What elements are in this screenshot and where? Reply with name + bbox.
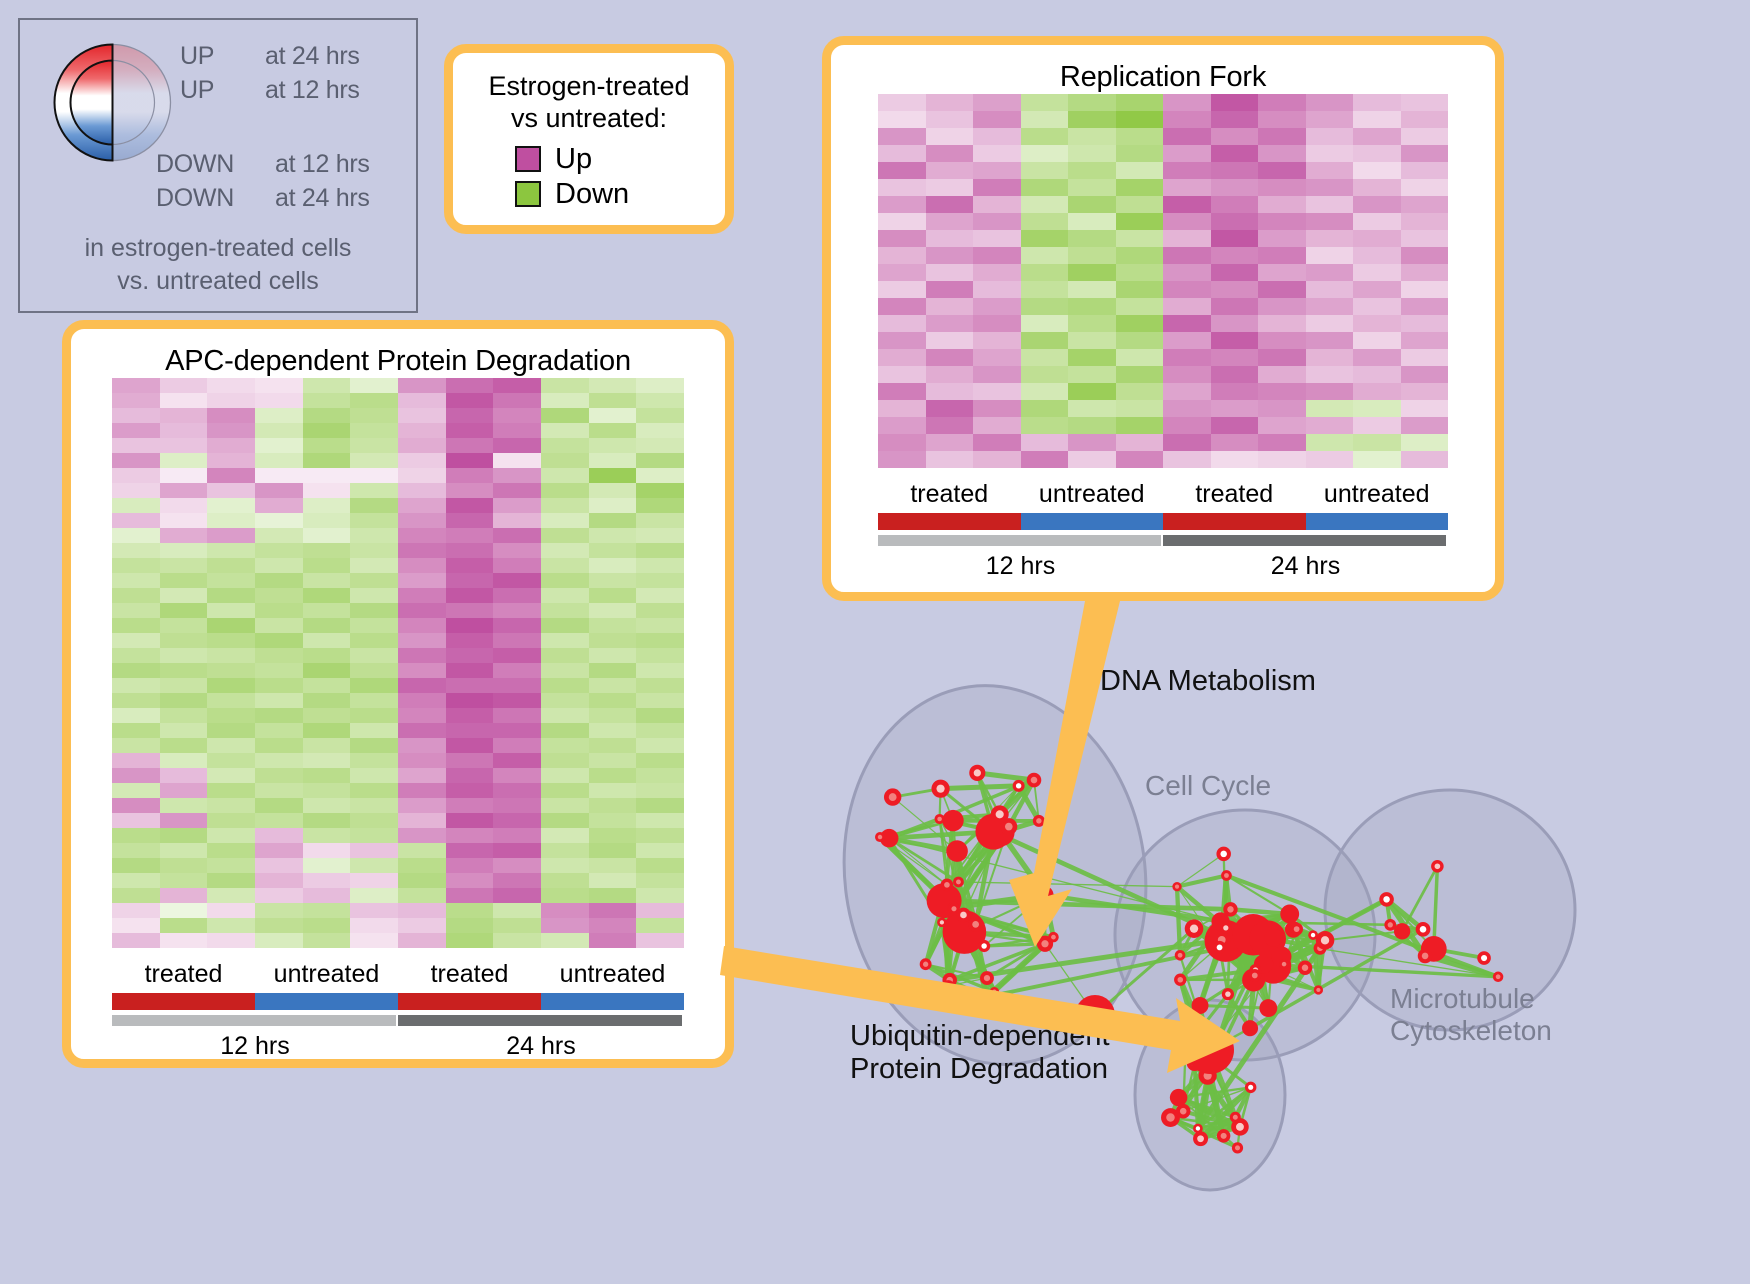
heatmap-cell [493, 858, 541, 873]
group-color-bar [112, 993, 255, 1010]
heatmap-cell [350, 588, 398, 603]
heatmap-cell [303, 663, 351, 678]
heatmap-cell [1258, 196, 1306, 213]
heatmap-cell [493, 903, 541, 918]
heatmap-cell [398, 468, 446, 483]
heatmap-cell [636, 708, 684, 723]
heatmap-cell [398, 723, 446, 738]
heatmap-cell [1353, 417, 1401, 434]
heatmap-cell [636, 798, 684, 813]
heatmap-cell [541, 588, 589, 603]
heatmap-cell [1306, 417, 1354, 434]
heatmap-cell [926, 94, 974, 111]
heatmap-cell [878, 400, 926, 417]
network-node[interactable] [1174, 974, 1186, 986]
heatmap-cell [398, 498, 446, 513]
network-node[interactable] [1192, 997, 1209, 1014]
heatmap-cell [446, 603, 494, 618]
heatmap-cell [207, 783, 255, 798]
heatmap-cell [1306, 264, 1354, 281]
heatmap-cell [255, 663, 303, 678]
heatmap-cell [160, 468, 208, 483]
group-label: treated [1163, 480, 1306, 509]
network-node[interactable] [1223, 902, 1237, 916]
heatmap-cell [493, 603, 541, 618]
network-node[interactable] [1245, 1082, 1256, 1093]
pathway-network: DNA Metabolism Cell Cycle Microtubule Cy… [790, 620, 1750, 1279]
network-node[interactable] [1222, 988, 1234, 1000]
heatmap-cell [398, 663, 446, 678]
heatmap-cell [973, 298, 1021, 315]
heatmap-cell [589, 873, 637, 888]
heatmap-cell [1211, 349, 1259, 366]
heatmap-cell [1163, 162, 1211, 179]
heatmap-cell [160, 828, 208, 843]
network-node[interactable] [1033, 815, 1045, 827]
heatmap-cell [207, 813, 255, 828]
heatmap-cell [1163, 179, 1211, 196]
heatmap-cell [350, 708, 398, 723]
heatmap-cell [493, 633, 541, 648]
heatmap-cell [493, 543, 541, 558]
network-edge [941, 786, 1019, 789]
up-down-legend-items: Up Down [453, 143, 725, 211]
heatmap-cell [1116, 400, 1164, 417]
heatmap-cell [973, 145, 1021, 162]
heatmap-cell [207, 933, 255, 948]
heatmap-cell [1163, 247, 1211, 264]
heatmap-cell [589, 438, 637, 453]
network-node[interactable] [1221, 870, 1232, 881]
heatmap-cell [255, 423, 303, 438]
heatmap-cell [350, 903, 398, 918]
heatmap-cell [255, 708, 303, 723]
network-node[interactable] [1379, 892, 1394, 907]
heatmap-cell [973, 94, 1021, 111]
heatmap-cell [1211, 264, 1259, 281]
heatmap-cell [398, 813, 446, 828]
network-node[interactable] [1394, 923, 1410, 939]
heatmap-cell [589, 693, 637, 708]
heatmap-cell [926, 230, 974, 247]
heatmap-cell [493, 558, 541, 573]
heatmap-cell [589, 588, 637, 603]
heatmap-cell [207, 393, 255, 408]
heatmap-cell [303, 423, 351, 438]
heatmap-cell [112, 813, 160, 828]
panel-title-replication-fork: Replication Fork [831, 45, 1495, 94]
group-label: untreated [255, 960, 398, 989]
network-node[interactable] [935, 814, 945, 824]
heatmap-cell [541, 798, 589, 813]
network-node[interactable] [1280, 905, 1299, 924]
heatmap-cell [493, 828, 541, 843]
legend-label-up: Up [555, 143, 592, 176]
heatmap-cell [303, 483, 351, 498]
heatmap-cell [112, 828, 160, 843]
network-node[interactable] [1259, 999, 1277, 1017]
heatmap-cell [1258, 434, 1306, 451]
panel-apc-degradation: APC-dependent Protein Degradation treate… [62, 320, 734, 1068]
heatmap-cell [493, 453, 541, 468]
heatmap-cell [1116, 230, 1164, 247]
heatmap-cell [1068, 332, 1116, 349]
heatmap-cell [1211, 213, 1259, 230]
heatmap-cell [303, 393, 351, 408]
wheel-label-down-12: DOWN [156, 150, 234, 179]
heatmap-cell [446, 813, 494, 828]
heatmap-cell [1258, 417, 1306, 434]
heatmap-cell [541, 378, 589, 393]
network-node[interactable] [1384, 919, 1396, 931]
network-node[interactable] [968, 917, 983, 932]
heatmap-cell [398, 588, 446, 603]
heatmap-cell [303, 828, 351, 843]
up-down-legend-title: Estrogen-treated vs untreated: [453, 67, 725, 135]
network-node[interactable] [1290, 923, 1303, 936]
heatmap-cell [541, 888, 589, 903]
heatmap-cell [636, 453, 684, 468]
heatmap-cell [1258, 213, 1306, 230]
heatmap-cell [112, 798, 160, 813]
heatmap-cell [1353, 145, 1401, 162]
network-node[interactable] [1493, 972, 1503, 982]
heatmap-cell [1021, 332, 1069, 349]
heatmap-cell [1211, 332, 1259, 349]
heatmap-cell [1401, 383, 1449, 400]
heatmap-cell [1116, 315, 1164, 332]
network-node[interactable] [1027, 773, 1042, 788]
heatmap-cell [1211, 434, 1259, 451]
heatmap-cell [207, 723, 255, 738]
network-node[interactable] [1230, 1112, 1241, 1123]
heatmap-cell [589, 903, 637, 918]
heatmap-cell [350, 753, 398, 768]
cluster-label-cell-cycle: Cell Cycle [1145, 770, 1271, 802]
heatmap-cell [303, 468, 351, 483]
heatmap-cell [589, 378, 637, 393]
heatmap-cell [1068, 298, 1116, 315]
heatmap-cell [1068, 383, 1116, 400]
heatmap-cell [541, 603, 589, 618]
heatmap-cell [926, 179, 974, 196]
heatmap-cell [255, 483, 303, 498]
heatmap-cell [1401, 196, 1449, 213]
heatmap-cell [446, 408, 494, 423]
heatmap-cell [446, 918, 494, 933]
heatmap-cell [446, 753, 494, 768]
heatmap-cell [926, 247, 974, 264]
network-node[interactable] [1298, 961, 1312, 975]
heatmap-cell [112, 408, 160, 423]
heatmap-cell [398, 753, 446, 768]
heatmap-cell [1306, 383, 1354, 400]
heatmap-cell [303, 933, 351, 948]
heatmap-cell [255, 393, 303, 408]
network-node[interactable] [1213, 941, 1226, 954]
cluster-label-ubiquitin: Ubiquitin-dependent Protein Degradation [850, 1020, 1110, 1087]
heatmap-cell [589, 753, 637, 768]
heatmap-cell [1401, 128, 1449, 145]
heatmap-cell [589, 708, 637, 723]
network-node[interactable] [982, 992, 992, 1002]
heatmap-cell [207, 573, 255, 588]
heatmap-cell [303, 558, 351, 573]
heatmap-cell [1163, 264, 1211, 281]
network-node[interactable] [953, 877, 964, 888]
heatmap-cell [1211, 451, 1259, 468]
heatmap-cell [207, 648, 255, 663]
network-node[interactable] [991, 805, 1009, 823]
heatmap-cell [589, 933, 637, 948]
heatmap-cell [1021, 451, 1069, 468]
heatmap-cell [255, 933, 303, 948]
network-node[interactable] [1170, 1089, 1187, 1106]
heatmap-cell [446, 663, 494, 678]
heatmap-cell [1401, 264, 1449, 281]
heatmap-cell [493, 438, 541, 453]
network-node[interactable] [1314, 985, 1323, 994]
network-node[interactable] [875, 832, 885, 842]
heatmap-cell [1258, 162, 1306, 179]
heatmap-cell [926, 196, 974, 213]
network-node[interactable] [1185, 919, 1204, 938]
heatmap-cell [1258, 315, 1306, 332]
group-label: treated [398, 960, 541, 989]
heatmap-cell [160, 498, 208, 513]
heatmap-cell [398, 408, 446, 423]
heatmap-cell [973, 196, 1021, 213]
network-node[interactable] [920, 958, 932, 970]
heatmap-cell [1163, 196, 1211, 213]
heatmap-cell [160, 543, 208, 558]
heatmap-cell [878, 213, 926, 230]
wheel-time-up-12: at 12 hrs [265, 76, 360, 105]
heatmap-cell [636, 813, 684, 828]
network-node[interactable] [943, 980, 954, 991]
heatmap-cell [446, 588, 494, 603]
heatmap-cell [1163, 451, 1211, 468]
heatmap-cell [926, 213, 974, 230]
heatmap-cell [493, 468, 541, 483]
network-node[interactable] [1232, 1142, 1243, 1153]
wheel-time-up-24: at 24 hrs [265, 42, 360, 71]
network-node[interactable] [980, 971, 994, 985]
network-node[interactable] [1242, 1020, 1258, 1036]
down-color-swatch [515, 181, 541, 207]
heatmap-replication-fork [878, 94, 1448, 468]
heatmap-cell [1116, 349, 1164, 366]
heatmap-cell [1116, 145, 1164, 162]
network-node[interactable] [1193, 1131, 1208, 1146]
network-node[interactable] [1172, 882, 1181, 891]
heatmap-cell [255, 603, 303, 618]
heatmap-cell [926, 400, 974, 417]
network-node[interactable] [956, 908, 971, 923]
wheel-label-up-12: UP [180, 76, 214, 105]
network-node[interactable] [1013, 780, 1025, 792]
wheel-time-down-24: at 24 hrs [275, 184, 370, 213]
heatmap-cell [493, 708, 541, 723]
heatmap-cell [350, 723, 398, 738]
time-label: 12 hrs [112, 1032, 398, 1061]
network-graph [790, 620, 1750, 1279]
heatmap-cell [589, 528, 637, 543]
heatmap-cell [541, 783, 589, 798]
heatmap-cell [1163, 315, 1211, 332]
network-node[interactable] [937, 918, 947, 928]
heatmap-cell [398, 528, 446, 543]
network-node[interactable] [978, 940, 990, 952]
heatmap-cell [1306, 94, 1354, 111]
heatmap-cell [207, 558, 255, 573]
heatmap-cell [541, 903, 589, 918]
heatmap-cell [1211, 111, 1259, 128]
heatmap-cell [1258, 94, 1306, 111]
heatmap-cell [255, 573, 303, 588]
heatmap-cell [398, 768, 446, 783]
heatmap-cell [636, 483, 684, 498]
heatmap-cell [255, 528, 303, 543]
heatmap-cell [1068, 128, 1116, 145]
network-node[interactable] [1477, 951, 1491, 965]
time-label: 24 hrs [1163, 552, 1448, 581]
heatmap-cell [1211, 281, 1259, 298]
heatmap-cell [541, 663, 589, 678]
expression-direction-legend: UP at 24 hrs UP at 12 hrs DOWN at 12 hrs… [18, 18, 418, 313]
heatmap-cell [303, 843, 351, 858]
heatmap-cell [207, 903, 255, 918]
heatmap-cell [350, 483, 398, 498]
heatmap-cell [636, 393, 684, 408]
network-node[interactable] [1418, 949, 1433, 964]
heatmap-cell [1116, 179, 1164, 196]
network-node[interactable] [1161, 1108, 1180, 1127]
heatmap-cell [636, 513, 684, 528]
heatmap-cell [446, 453, 494, 468]
heatmap-cell [398, 573, 446, 588]
group-color-bar [541, 993, 684, 1010]
heatmap-cell [493, 918, 541, 933]
network-node[interactable] [1265, 928, 1283, 946]
heatmap-cell [446, 693, 494, 708]
heatmap-cell [1211, 162, 1259, 179]
heatmap-cell [398, 783, 446, 798]
network-node[interactable] [1048, 932, 1059, 943]
heatmap-cell [493, 813, 541, 828]
group-label: treated [112, 960, 255, 989]
network-node[interactable] [884, 788, 901, 805]
heatmap-cell [1306, 162, 1354, 179]
heatmap-cell [255, 858, 303, 873]
heatmap-cell [541, 708, 589, 723]
heatmap-cell [1306, 332, 1354, 349]
heatmap-cell [1211, 179, 1259, 196]
heatmap-cell [926, 332, 974, 349]
heatmap-cell [1306, 213, 1354, 230]
network-node[interactable] [1316, 931, 1335, 950]
heatmap-cell [493, 873, 541, 888]
heatmap-cell [350, 828, 398, 843]
heatmap-cell [303, 528, 351, 543]
heatmap-cell [303, 633, 351, 648]
network-node[interactable] [1416, 922, 1431, 937]
heatmap-cell [1353, 332, 1401, 349]
heatmap-cell [207, 693, 255, 708]
heatmap-cell [112, 603, 160, 618]
network-node[interactable] [1036, 886, 1053, 903]
heatmap-cell [160, 693, 208, 708]
network-node[interactable] [1220, 922, 1232, 934]
network-node[interactable] [941, 879, 954, 892]
heatmap-cell [1163, 434, 1211, 451]
network-node[interactable] [1431, 860, 1444, 873]
heatmap-cell [1306, 111, 1354, 128]
heatmap-cell [589, 393, 637, 408]
heatmap-cell [255, 588, 303, 603]
heatmap-cell [493, 783, 541, 798]
heatmap-cell [1401, 247, 1449, 264]
heatmap-cell [1163, 230, 1211, 247]
network-node[interactable] [942, 810, 963, 831]
heatmap-cell [878, 451, 926, 468]
network-node[interactable] [1186, 1026, 1234, 1074]
heatmap-cell [493, 423, 541, 438]
heatmap-cell [926, 264, 974, 281]
heatmap-cell [636, 858, 684, 873]
heatmap-cell [541, 858, 589, 873]
network-node[interactable] [1248, 969, 1261, 982]
heatmap-cell [160, 513, 208, 528]
heatmap-cell [1353, 94, 1401, 111]
heatmap-cell [973, 213, 1021, 230]
heatmap-cell [541, 423, 589, 438]
heatmap-cell [493, 573, 541, 588]
heatmap-cell [398, 678, 446, 693]
heatmap-cell [160, 903, 208, 918]
heatmap-cell [541, 873, 589, 888]
network-node[interactable] [931, 780, 949, 798]
network-node[interactable] [1308, 930, 1318, 940]
network-node[interactable] [1216, 847, 1231, 862]
network-node[interactable] [946, 840, 968, 862]
network-node[interactable] [969, 765, 985, 781]
heatmap-cell [303, 603, 351, 618]
heatmap-cell [160, 588, 208, 603]
heatmap-cell [350, 618, 398, 633]
heatmap-cell [446, 858, 494, 873]
heatmap-cell [303, 378, 351, 393]
heatmap-cell [1068, 94, 1116, 111]
heatmap-cell [112, 393, 160, 408]
heatmap-cell [878, 281, 926, 298]
heatmap-cell [541, 618, 589, 633]
heatmap-cell [1353, 366, 1401, 383]
heatmap-cell [1353, 383, 1401, 400]
heatmap-cell [493, 678, 541, 693]
network-node[interactable] [1217, 1129, 1230, 1142]
network-node[interactable] [1175, 950, 1186, 961]
network-node[interactable] [1279, 959, 1289, 969]
heatmap-cell [112, 663, 160, 678]
heatmap-cell [350, 438, 398, 453]
heatmap-cell [636, 378, 684, 393]
heatmap-cell [541, 768, 589, 783]
heatmap-cell [541, 438, 589, 453]
heatmap-cell [926, 366, 974, 383]
heatmap-cell [112, 873, 160, 888]
up-color-swatch [515, 146, 541, 172]
